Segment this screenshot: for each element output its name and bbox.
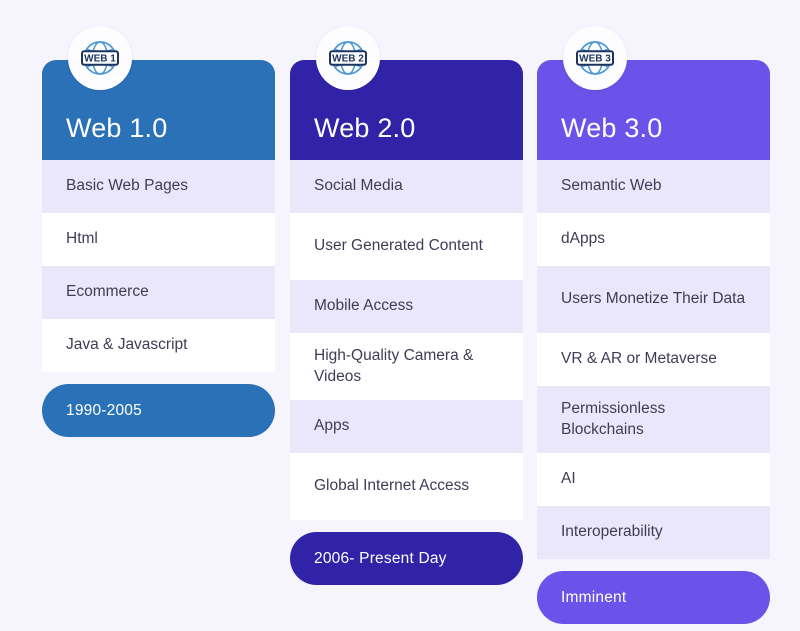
badge-label: WEB 3 <box>579 53 611 64</box>
badge-web-1: WEB 1 <box>68 26 132 90</box>
card-header-web2: WEB 2Web 2.0 <box>290 60 523 160</box>
list-item: Mobile Access <box>290 280 523 333</box>
era-pill-web1: 1990-2005 <box>42 384 275 437</box>
badge-web-3: WEB 3 <box>563 26 627 90</box>
list-item: Global Internet Access <box>290 453 523 520</box>
card-title-web3: Web 3.0 <box>561 115 662 142</box>
list-item: dApps <box>537 213 770 266</box>
column-web1: WEB 1Web 1.0Basic Web PagesHtmlEcommerce… <box>42 60 275 437</box>
card-title-web2: Web 2.0 <box>314 115 415 142</box>
list-item: Basic Web Pages <box>42 160 275 213</box>
list-item: VR & AR or Metaverse <box>537 333 770 386</box>
list-item: Html <box>42 213 275 266</box>
list-item: High-Quality Camera & Videos <box>290 333 523 400</box>
feature-list-web1: Basic Web PagesHtmlEcommerceJava & Javas… <box>42 160 275 372</box>
web-evolution-infographic: WEB 1Web 1.0Basic Web PagesHtmlEcommerce… <box>0 0 800 631</box>
card-title-web1: Web 1.0 <box>66 115 167 142</box>
list-item: Apps <box>290 400 523 453</box>
globe-icon: WEB 1 <box>75 33 125 83</box>
list-item: AI <box>537 453 770 506</box>
list-item: Semantic Web <box>537 160 770 213</box>
feature-list-web3: Semantic WebdAppsUsers Monetize Their Da… <box>537 160 770 559</box>
globe-icon: WEB 2 <box>323 33 373 83</box>
feature-list-web2: Social MediaUser Generated ContentMobile… <box>290 160 523 520</box>
card-header-web3: WEB 3Web 3.0 <box>537 60 770 160</box>
list-item: User Generated Content <box>290 213 523 280</box>
list-item: Java & Javascript <box>42 319 275 372</box>
card-header-web1: WEB 1Web 1.0 <box>42 60 275 160</box>
list-item: Users Monetize Their Data <box>537 266 770 333</box>
badge-label: WEB 1 <box>84 53 116 64</box>
era-pill-web3: Imminent <box>537 571 770 624</box>
list-item: Permissionless Blockchains <box>537 386 770 453</box>
column-web2: WEB 2Web 2.0Social MediaUser Generated C… <box>290 60 523 585</box>
column-web3: WEB 3Web 3.0Semantic WebdAppsUsers Monet… <box>537 60 770 624</box>
list-item: Ecommerce <box>42 266 275 319</box>
list-item: Interoperability <box>537 506 770 559</box>
globe-icon: WEB 3 <box>570 33 620 83</box>
badge-label: WEB 2 <box>332 53 364 64</box>
list-item: Social Media <box>290 160 523 213</box>
badge-web-2: WEB 2 <box>316 26 380 90</box>
era-pill-web2: 2006- Present Day <box>290 532 523 585</box>
